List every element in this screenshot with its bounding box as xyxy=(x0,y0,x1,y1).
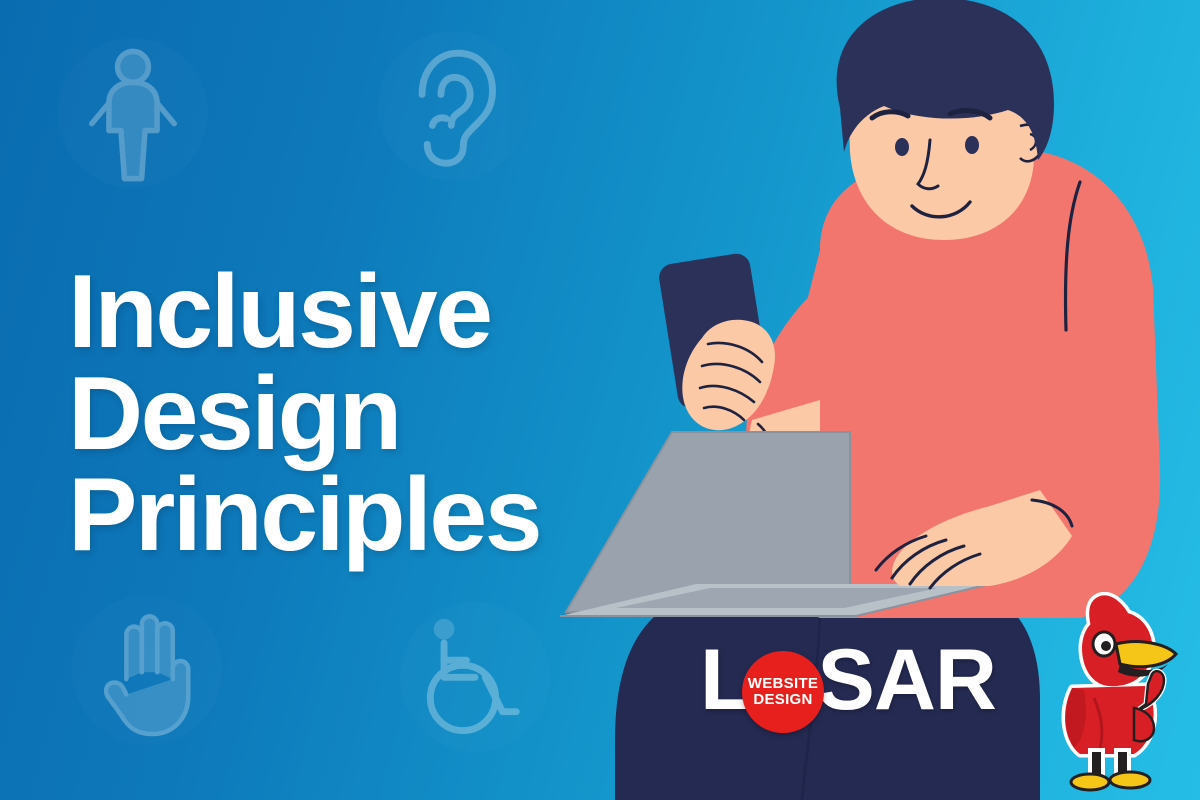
cardinal-mascot xyxy=(1042,592,1192,792)
brand-logo[interactable]: LOSAR WEBSITE DESIGN xyxy=(700,632,996,728)
brand-wordmark: LOSAR WEBSITE DESIGN xyxy=(700,637,996,723)
mascot-foot-right xyxy=(1110,772,1150,788)
wordmark-after: SAR xyxy=(817,632,996,728)
website-design-badge: WEBSITE DESIGN xyxy=(742,651,824,733)
wheelchair-icon xyxy=(420,612,530,742)
mascot-beak xyxy=(1116,642,1176,667)
title-line-1: Inclusive xyxy=(68,262,540,364)
page-title: Inclusive Design Principles xyxy=(68,262,540,568)
badge-line-1: WEBSITE xyxy=(748,676,818,692)
badge-line-2: DESIGN xyxy=(753,692,812,708)
title-line-2: Design xyxy=(68,364,540,466)
person-icon xyxy=(78,48,188,178)
title-line-3: Principles xyxy=(68,465,540,567)
promo-banner: Inclusive Design Principles xyxy=(0,0,1200,800)
ear-icon xyxy=(398,36,508,176)
hand-icon xyxy=(92,600,202,740)
mascot-foot-left xyxy=(1071,774,1109,790)
